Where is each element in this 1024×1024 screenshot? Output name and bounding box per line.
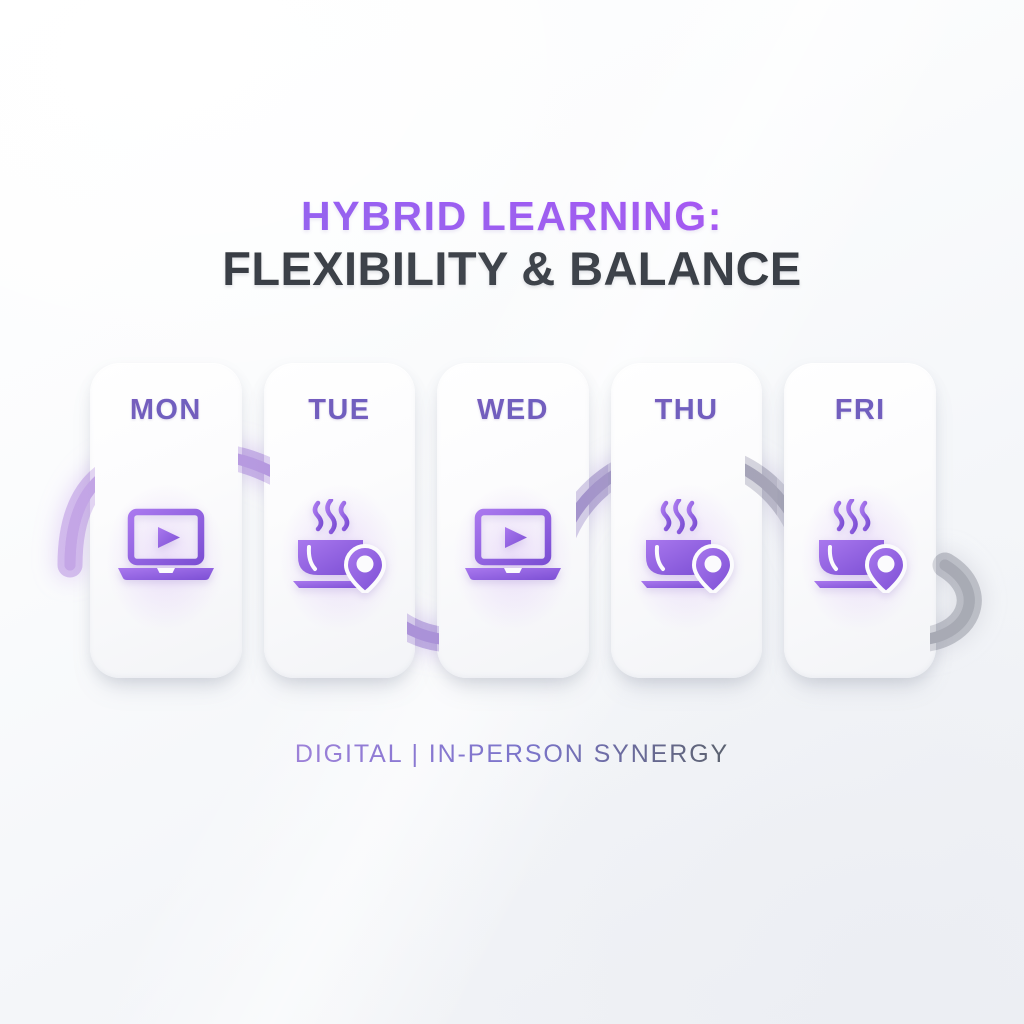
weekday-card-mon[interactable]: MON [90, 363, 242, 678]
day-label-tue: TUE [264, 394, 416, 427]
weekday-card-thu[interactable]: THU [611, 363, 763, 678]
day-label-mon: MON [90, 394, 242, 427]
weekday-card-row: MON TUE [90, 363, 936, 678]
day-label-thu: THU [611, 394, 763, 427]
laptop-play-icon [437, 491, 589, 601]
coffee-location-icon [264, 491, 416, 601]
footer-caption: DIGITAL | IN-PERSON SYNERGY [0, 740, 1024, 769]
laptop-play-icon [90, 491, 242, 601]
page-title: HYBRID LEARNING: FLEXIBILITY & BALANCE [0, 196, 1024, 293]
day-label-wed: WED [437, 394, 589, 427]
title-line-secondary: FLEXIBILITY & BALANCE [0, 245, 1024, 293]
title-line-primary: HYBRID LEARNING: [0, 196, 1024, 238]
coffee-location-icon [611, 491, 763, 601]
weekday-card-wed[interactable]: WED [437, 363, 589, 678]
coffee-location-icon [784, 491, 936, 601]
weekday-card-fri[interactable]: FRI [784, 363, 936, 678]
weekday-card-tue[interactable]: TUE [264, 363, 416, 678]
day-label-fri: FRI [784, 394, 936, 427]
